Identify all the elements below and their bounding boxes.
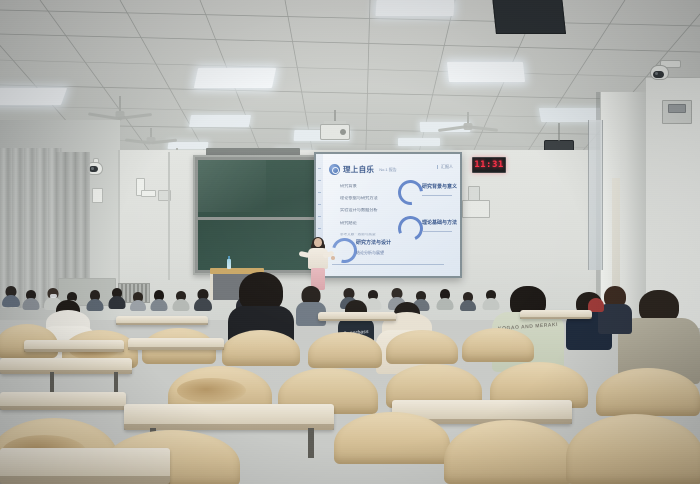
ceiling-speaker: [492, 0, 566, 34]
agenda-item: 研究背景: [340, 184, 400, 188]
chair-back-front: [566, 414, 700, 484]
ceiling-light-panel: [447, 62, 525, 82]
desk-leg: [308, 428, 314, 458]
student: [22, 290, 39, 309]
presentation-slide: 理上自乐 No.1 报告 汇报人 研究背景 理论依据与研究方法 实验设计与数据分…: [316, 154, 460, 276]
ceiling-fan: [440, 112, 496, 142]
desk-surface: [0, 358, 132, 374]
chair-back: [386, 330, 458, 364]
ceiling-projector: [318, 110, 352, 142]
ceiling-light-panel: [0, 88, 67, 105]
student: [172, 291, 189, 310]
presenter-top: [308, 248, 328, 269]
slide-agenda-list: 研究背景 理论依据与研究方法 实验设计与数据分析 研究结论 参考文献 · 致谢与…: [340, 184, 400, 244]
ring-label-3: 研究方法与设计: [356, 240, 391, 247]
water-bottle: [227, 259, 231, 269]
agenda-item: 参考文献 · 致谢与展望: [340, 233, 400, 237]
ring-sublabel-3: 结论分析与展望: [356, 250, 384, 256]
wall-rail: [118, 150, 120, 298]
agenda-item: 理论依据与研究方法: [340, 196, 400, 200]
desk-leg: [50, 372, 54, 394]
desk-surface: [128, 338, 224, 350]
desk-leg: [114, 372, 118, 392]
chair-back: [222, 330, 300, 366]
desk-surface: [520, 310, 592, 319]
student: [436, 289, 453, 309]
chair-back: [462, 328, 534, 362]
ring-rule-1: [422, 195, 452, 196]
ring-rule-2: [422, 231, 452, 232]
corridor-light-gap: [612, 178, 620, 296]
wall-switch[interactable]: [468, 186, 480, 201]
led-clock-time: 11:31: [474, 160, 504, 170]
ring-label-2: 理论基础与方法: [422, 220, 457, 227]
window-strip: [588, 120, 603, 270]
chalkboard: [193, 155, 321, 275]
security-camera: [646, 60, 680, 86]
brand-emblem-icon: [329, 164, 340, 175]
student: [130, 292, 146, 310]
student: [194, 289, 212, 310]
chair-back: [308, 332, 382, 368]
wall-bracket: [141, 190, 156, 197]
projection-screen: 理上自乐 No.1 报告 汇报人 研究背景 理论依据与研究方法 实验设计与数据分…: [314, 152, 462, 278]
ceiling-light-panel: [375, 0, 454, 16]
ceiling-light-panel: [398, 138, 440, 146]
face-mask: [50, 294, 57, 298]
student: [460, 292, 476, 310]
wall-rail: [168, 152, 170, 280]
wall-equipment-box[interactable]: [462, 200, 490, 218]
presenter-head: [314, 238, 322, 247]
slide-logo: 理上自乐 No.1 报告: [329, 164, 397, 175]
desk-surface: [318, 312, 396, 321]
ceiling-light-panel: [194, 68, 276, 88]
desk-surface-front: [124, 404, 334, 430]
desk-surface-front: [0, 448, 170, 484]
slide-logo-subtext: No.1 报告: [379, 168, 397, 172]
presenter: [305, 238, 331, 290]
slide-logo-text: 理上自乐: [343, 166, 374, 174]
slide-bottom-rule: [332, 264, 444, 265]
agenda-item: 实验设计与数据分析: [340, 208, 400, 212]
ceiling-light-panel: [189, 115, 251, 127]
chair-back-front: [444, 420, 574, 484]
led-clock: 11:31: [472, 157, 506, 173]
desk-surface: [24, 340, 124, 352]
wall-panel-display: [668, 104, 686, 113]
classroom-photo: 11:31 理上自乐 No.1 报告 汇报人 研究背景 理论依据与研究方法 实验…: [0, 0, 700, 484]
chalkboard-glare: [198, 160, 266, 212]
desk-surface: [116, 316, 208, 325]
wall-fixture: [92, 188, 103, 203]
student: [108, 288, 125, 308]
slide-corner-tag: 汇报人: [437, 165, 453, 169]
presenter-hand: [331, 256, 335, 260]
desk-surface: [0, 392, 126, 410]
window-curtain: [0, 148, 62, 308]
student: [150, 290, 167, 309]
agenda-item: 研究结论: [340, 221, 400, 225]
ring-label-1: 研究背景与意义: [422, 184, 457, 191]
student: [2, 286, 20, 306]
